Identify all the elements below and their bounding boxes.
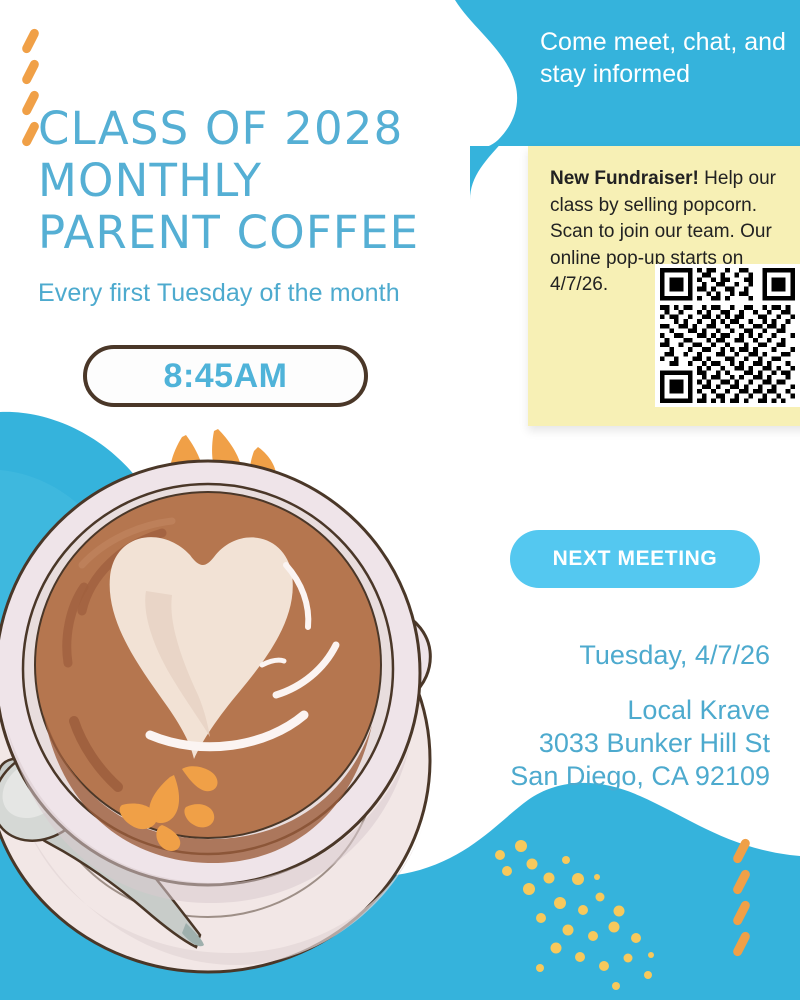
meeting-time-badge: 8:45AM (83, 345, 368, 407)
orange-dash-accent-top-left (26, 28, 35, 152)
poster-canvas: CLASS OF 2028 MONTHLY PARENT COFFEE Ever… (0, 0, 800, 1000)
qr-code[interactable] (659, 268, 796, 403)
meeting-venue: Local Krave 3033 Bunker Hill St San Dieg… (420, 694, 770, 793)
tagline: Come meet, chat, and stay informed (540, 26, 790, 90)
headline-line-3: PARENT COFFEE (38, 207, 508, 259)
dash-icon (732, 868, 752, 895)
orange-dash-accent-bottom-right (737, 838, 746, 962)
meeting-date: Tuesday, 4/7/26 (440, 638, 770, 672)
venue-city: San Diego, CA 92109 (420, 760, 770, 793)
dash-icon (732, 837, 752, 864)
next-meeting-badge[interactable]: NEXT MEETING (510, 530, 760, 588)
coffee-cup-illustration (0, 425, 456, 1000)
headline-line-2: MONTHLY (38, 155, 508, 207)
page-title: CLASS OF 2028 MONTHLY PARENT COFFEE (38, 103, 508, 259)
dash-icon (732, 899, 752, 926)
dash-icon (732, 930, 752, 957)
fundraiser-lead: New Fundraiser! (550, 168, 699, 189)
headline-line-1: CLASS OF 2028 (38, 103, 508, 155)
venue-street: 3033 Bunker Hill St (420, 727, 770, 760)
dash-icon (21, 58, 41, 85)
subheadline: Every first Tuesday of the month (38, 278, 518, 308)
meeting-time-text: 8:45AM (164, 357, 288, 396)
venue-name: Local Krave (420, 694, 770, 727)
dash-icon (21, 27, 41, 54)
qr-code-container[interactable] (655, 264, 800, 407)
fundraiser-card: New Fundraiser! Help our class by sellin… (528, 146, 800, 426)
next-meeting-label: NEXT MEETING (553, 547, 718, 571)
yellow-dot-scatter (495, 840, 654, 990)
